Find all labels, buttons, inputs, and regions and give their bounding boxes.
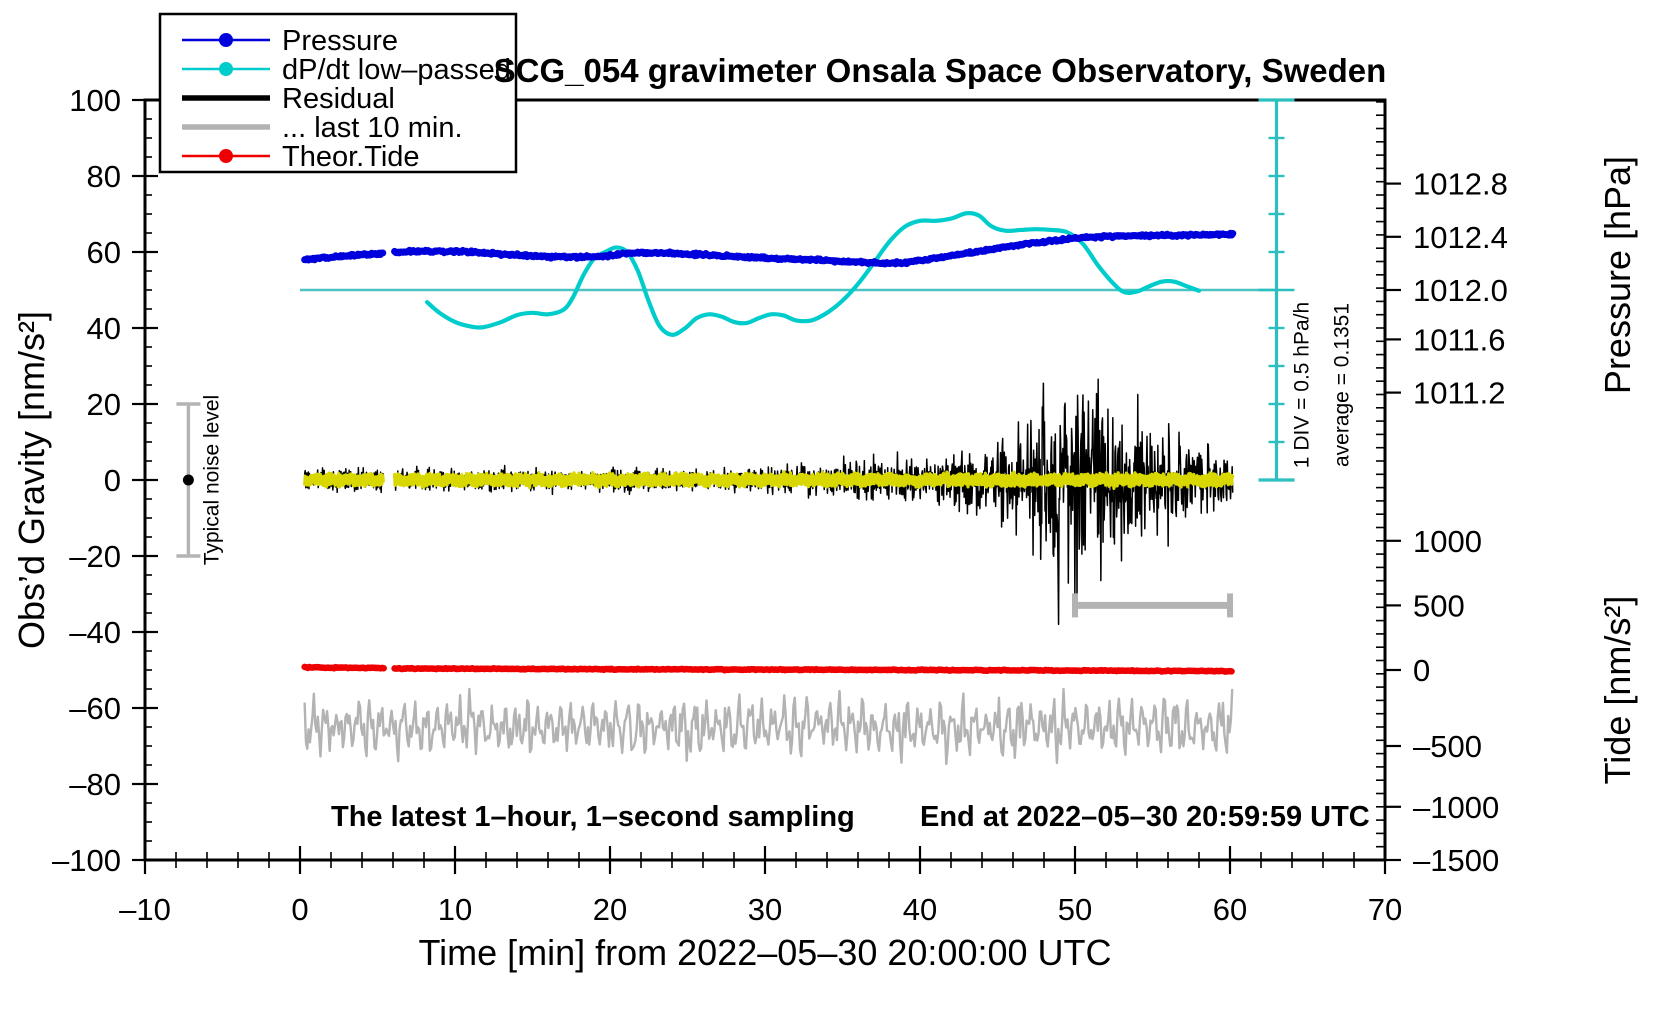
chart-canvas: –100–80–60–40–20020406080100–10010203040… <box>0 0 1660 1020</box>
tide-tick-label: 0 <box>1413 653 1430 688</box>
y-tick-label: 0 <box>104 463 121 498</box>
sampling-note: The latest 1–hour, 1–second sampling <box>331 801 855 833</box>
x-tick-label: 20 <box>593 892 627 927</box>
y-tick-label: 20 <box>87 387 121 422</box>
tide-tick-label: –500 <box>1413 729 1482 764</box>
series-theor-tide-seg2 <box>395 668 1232 672</box>
x-tick-label: 30 <box>748 892 782 927</box>
x-tick-label: –10 <box>119 892 171 927</box>
legend[interactable]: PressuredP/dt low–passedResidual... last… <box>160 14 516 173</box>
legend-label: Theor.Tide <box>282 141 420 173</box>
dpdt-average-label: average = 0.1351 <box>1331 303 1354 467</box>
pressure-tick-label: 1012.8 <box>1413 167 1508 202</box>
tide-tick-label: –1500 <box>1413 843 1499 878</box>
pressure-axis-title: Pressure [hPa] <box>1597 156 1638 394</box>
legend-label: Residual <box>282 83 395 115</box>
y-tick-label: 40 <box>87 311 121 346</box>
y-tick-label: –60 <box>69 691 121 726</box>
legend-swatch-dot <box>219 62 233 76</box>
y-tick-label: 100 <box>69 83 121 118</box>
legend-label: ... last 10 min. <box>282 112 463 144</box>
y-tick-label: 80 <box>87 159 121 194</box>
x-tick-label: 60 <box>1213 892 1247 927</box>
y-tick-label: 60 <box>87 235 121 270</box>
gravimeter-monitor-plot: –100–80–60–40–20020406080100–10010203040… <box>0 0 1660 1020</box>
pressure-tick-label: 1011.2 <box>1413 376 1506 411</box>
y-tick-label: –20 <box>69 539 121 574</box>
x-tick-label: 70 <box>1368 892 1402 927</box>
dpdt-div-label: 1 DIV = 0.5 hPa/h <box>1291 302 1314 468</box>
pressure-tick-label: 1011.6 <box>1413 322 1506 357</box>
series-theor-tide-seg1 <box>305 667 384 668</box>
y-tick-label: –100 <box>52 843 121 878</box>
y-tick-label: –40 <box>69 615 121 650</box>
typical-noise-level-label: Typical noise level <box>200 395 223 565</box>
legend-label: Pressure <box>282 25 398 57</box>
legend-label: dP/dt low–passed <box>282 54 511 86</box>
x-tick-label: 10 <box>438 892 472 927</box>
titles-group: SCG_054 gravimeter Onsala Space Observat… <box>494 52 1387 89</box>
legend-swatch-dot <box>219 149 233 163</box>
tide-tick-label: –1000 <box>1413 790 1499 825</box>
x-tick-label: 0 <box>291 892 308 927</box>
x-tick-label: 50 <box>1058 892 1092 927</box>
page-title: SCG_054 gravimeter Onsala Space Observat… <box>494 52 1387 89</box>
noise-bar-center-dot <box>183 475 194 486</box>
x-axis-title: Time [min] from 2022–05–30 20:00:00 UTC <box>418 932 1111 973</box>
tide-tick-label: 1000 <box>1413 524 1482 559</box>
y-tick-label: –80 <box>69 767 121 802</box>
tide-axis-title: Tide [nm/s²] <box>1597 596 1638 785</box>
y-axis-title: Obs’d Gravity [nm/s²] <box>11 311 52 649</box>
end-time-note: End at 2022–05–30 20:59:59 UTC <box>920 801 1370 833</box>
tide-tick-label: 500 <box>1413 588 1465 623</box>
pressure-tick-label: 1012.0 <box>1413 273 1508 308</box>
legend-swatch-dot <box>219 33 233 47</box>
x-tick-label: 40 <box>903 892 937 927</box>
pressure-tick-label: 1012.4 <box>1413 220 1508 255</box>
